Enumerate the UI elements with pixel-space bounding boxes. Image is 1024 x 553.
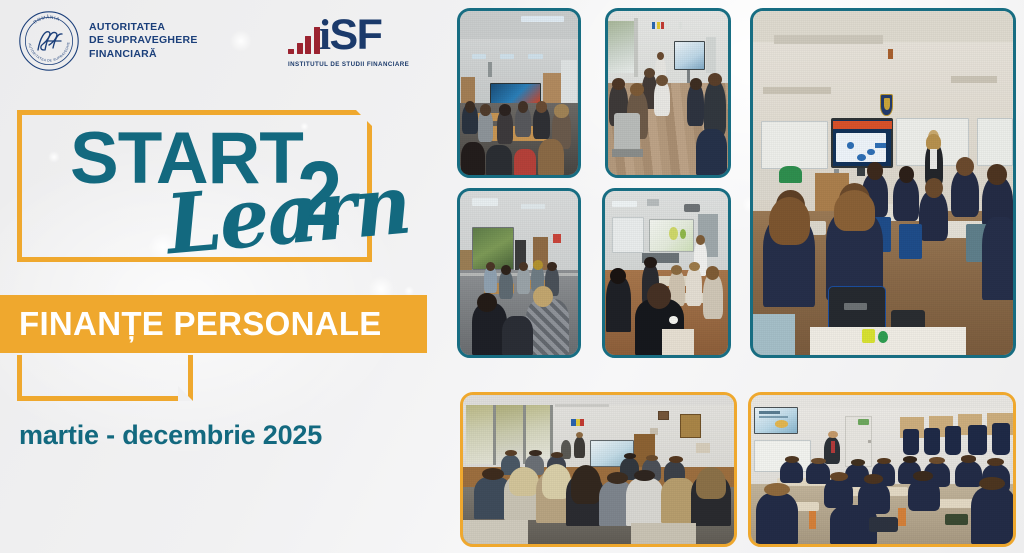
- brand-lockup: START 2 Learn: [0, 100, 440, 270]
- date-range-label: martie - decembrie 2025: [19, 420, 322, 451]
- photo-classroom-windows-full-audience: [460, 392, 737, 547]
- subject-banner-label: FINANȚE PERSONALE: [19, 305, 382, 343]
- photo-classroom-whiteboard-presentation: [602, 188, 731, 358]
- photo-classroom-rows-wooden-floor: [605, 8, 731, 178]
- photo-collage: [0, 0, 1024, 553]
- poster-root: ROMÂNIA AUTORITATEA DE SUPRAVEGHERE FINA…: [0, 0, 1024, 553]
- photo-classroom-uniformed-students-large: [750, 8, 1016, 358]
- brand-learn-text: Learn: [163, 160, 413, 271]
- subject-banner: FINANȚE PERSONALE: [0, 295, 427, 353]
- photo-classroom-presentation-lecture-hall: [457, 8, 581, 178]
- photo-classroom-lab-projector-screen: [457, 188, 581, 358]
- photo-classroom-uniformed-students-coats: [748, 392, 1016, 547]
